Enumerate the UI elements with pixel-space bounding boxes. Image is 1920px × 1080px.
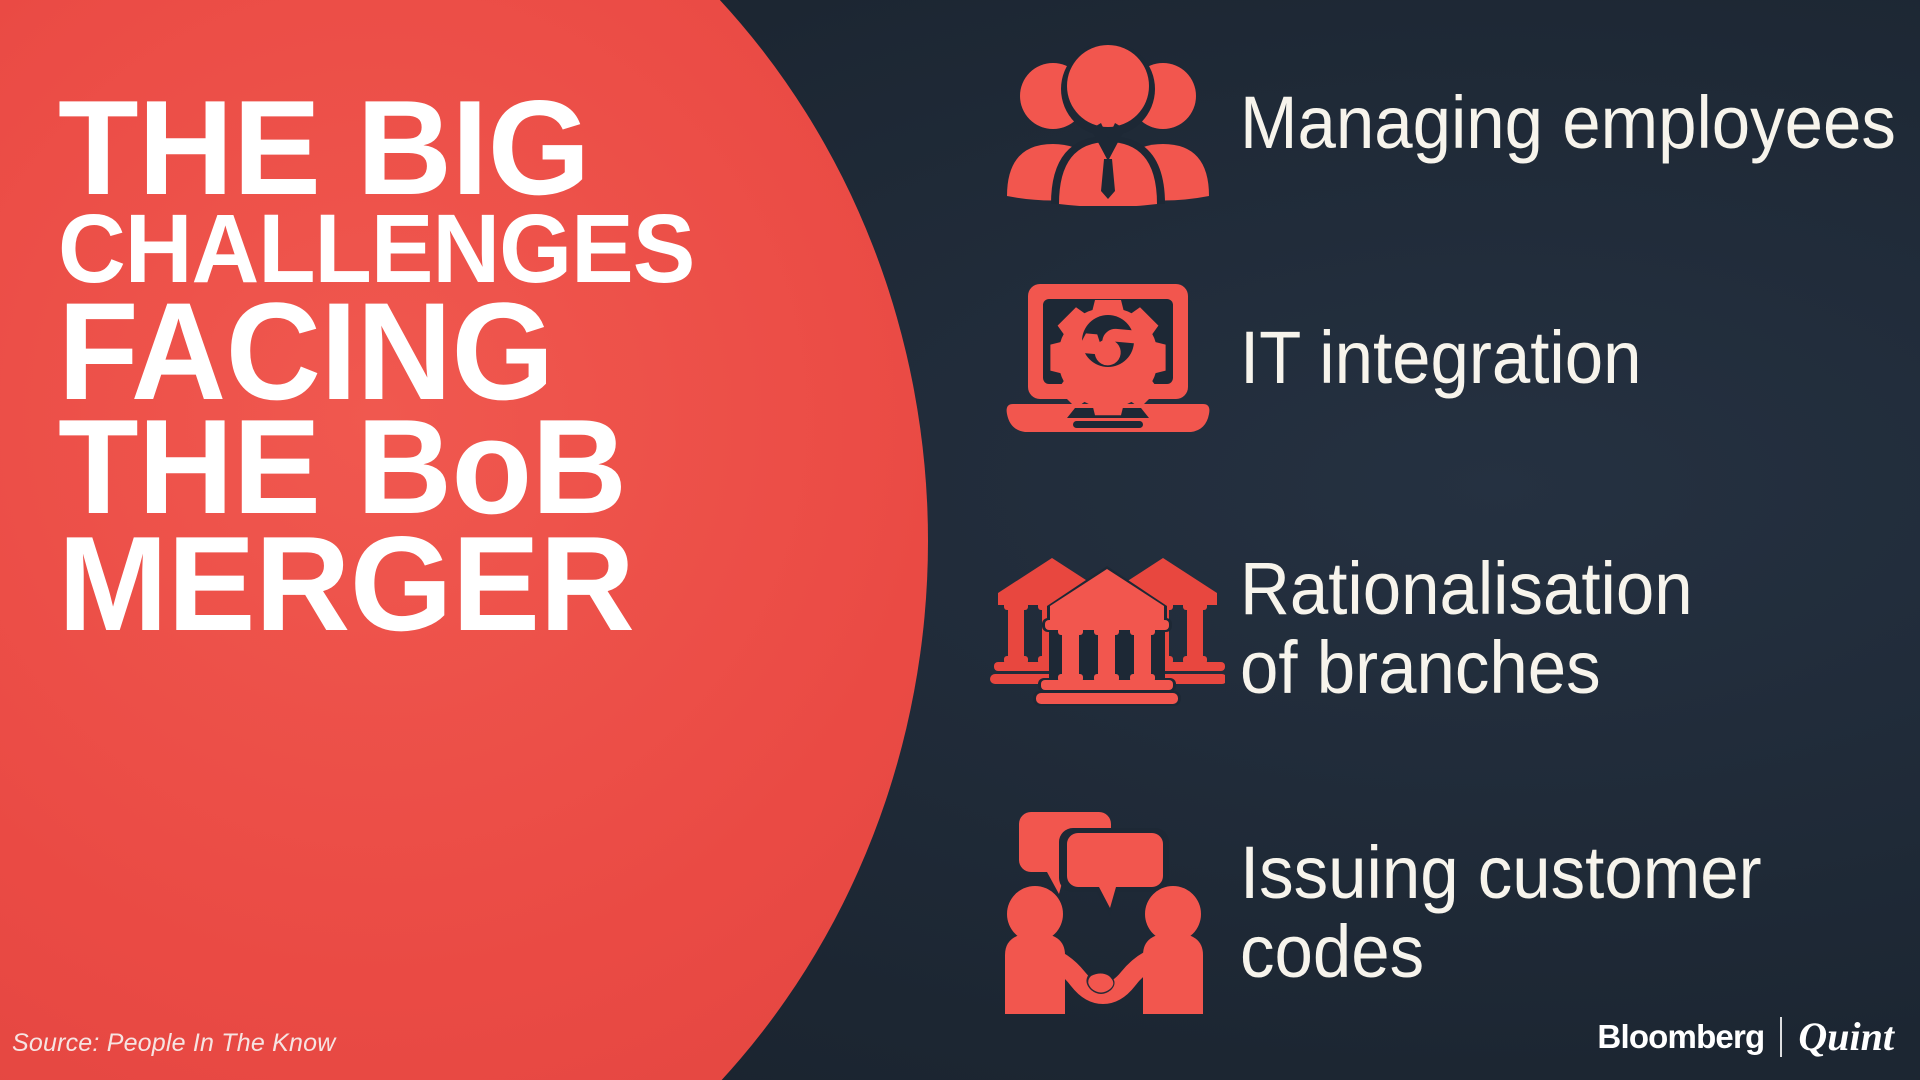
list-item: IT integration xyxy=(975,258,1920,458)
headline-line-4: THE BoB xyxy=(58,411,718,524)
headline-block: THE BIG CHALLENGES FACING THE BoB MERGER xyxy=(58,92,718,639)
brand-logo: Bloomberg Quint xyxy=(1597,1013,1894,1060)
list-item: Managing employees xyxy=(975,28,1920,218)
list-item-label: Managing employees xyxy=(1240,84,1896,163)
headline-line-5: MERGER xyxy=(58,528,718,641)
handshake-speech-bubbles-icon xyxy=(975,790,1240,1035)
list-item: Issuing customer codes xyxy=(975,790,1920,1035)
list-item: Rationalisation of branches xyxy=(975,528,1920,728)
laptop-gear-icon xyxy=(975,258,1240,458)
logo-quint-text: Quint xyxy=(1798,1013,1894,1060)
list-item-label: Rationalisation of branches xyxy=(1240,549,1693,707)
logo-bloomberg-text: Bloomberg xyxy=(1597,1018,1764,1056)
list-item-label: IT integration xyxy=(1240,319,1641,398)
logo-divider xyxy=(1780,1017,1782,1057)
infographic-canvas: THE BIG CHALLENGES FACING THE BoB MERGER… xyxy=(0,0,1920,1080)
challenges-list: Managing employees xyxy=(975,0,1920,1080)
bank-buildings-icon xyxy=(975,528,1240,728)
group-of-people-icon xyxy=(975,28,1240,218)
headline-line-1: THE BIG xyxy=(58,92,718,205)
source-credit: Source: People In The Know xyxy=(12,1029,335,1058)
list-item-label: Issuing customer codes xyxy=(1240,834,1762,992)
